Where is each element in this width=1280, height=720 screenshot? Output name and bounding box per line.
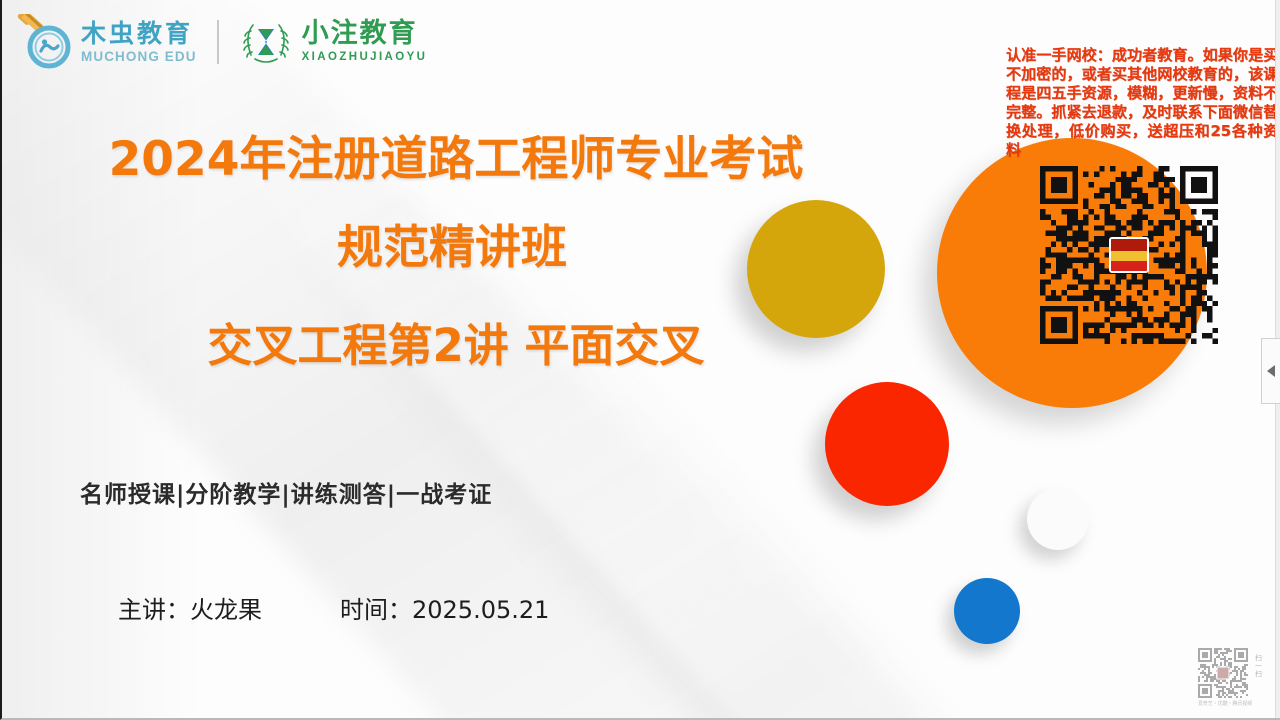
circle-white xyxy=(1027,488,1089,550)
circle-blue xyxy=(954,578,1020,644)
xiaozhu-logo-cn: 小注教育 xyxy=(302,20,428,47)
course-title-line-1: 2024年注册道路工程师专业考试 xyxy=(2,120,902,189)
brand-logo-bar: 木虫教育 MUCHONG EDU xyxy=(2,0,1280,84)
muchong-logo: 木虫教育 MUCHONG EDU xyxy=(16,14,197,70)
slide-canvas: 木虫教育 MUCHONG EDU xyxy=(0,0,1280,720)
muchong-logo-cn: 木虫教育 xyxy=(81,21,197,46)
watermark-qr-code: 扫一扫 爱奇艺・优酷・腾讯视频 xyxy=(1198,648,1270,712)
circle-red xyxy=(825,382,949,506)
watermark-qr-matrix xyxy=(1198,648,1248,698)
muchong-logo-en: MUCHONG EDU xyxy=(81,50,197,64)
magnifier-pencil-icon xyxy=(16,14,72,70)
course-title-line-2: 规范精讲班 xyxy=(2,211,902,277)
datetime-label: 时间：2025.05.21 xyxy=(340,590,549,625)
watermark-qr-caption: 爱奇艺・优酷・腾讯视频 xyxy=(1198,700,1252,707)
qr-center-logo xyxy=(1109,237,1149,273)
course-tagline: 名师授课|分阶教学|讲练测答|一战考证 xyxy=(80,475,492,509)
course-title-line-3: 交叉工程第2讲 平面交叉 xyxy=(2,309,902,374)
panel-collapse-handle[interactable] xyxy=(1261,338,1280,404)
lecture-meta: 主讲：火龙果 时间：2025.05.21 xyxy=(118,590,549,625)
logo-divider xyxy=(217,20,219,64)
laurel-x-emblem-icon xyxy=(239,15,293,69)
watermark-qr-center xyxy=(1217,667,1230,680)
wechat-qr-code[interactable] xyxy=(1040,166,1218,344)
chevron-left-icon xyxy=(1267,365,1275,377)
presenter-label: 主讲：火龙果 xyxy=(118,590,262,625)
xiaozhu-logo: 小注教育 XIAOZHUJIAOYU xyxy=(239,15,428,69)
xiaozhu-logo-en: XIAOZHUJIAOYU xyxy=(302,52,428,64)
slide-title-block: 2024年注册道路工程师专业考试 规范精讲班 交叉工程第2讲 平面交叉 xyxy=(2,120,902,374)
watermark-qr-side-text: 扫一扫 xyxy=(1252,654,1263,678)
